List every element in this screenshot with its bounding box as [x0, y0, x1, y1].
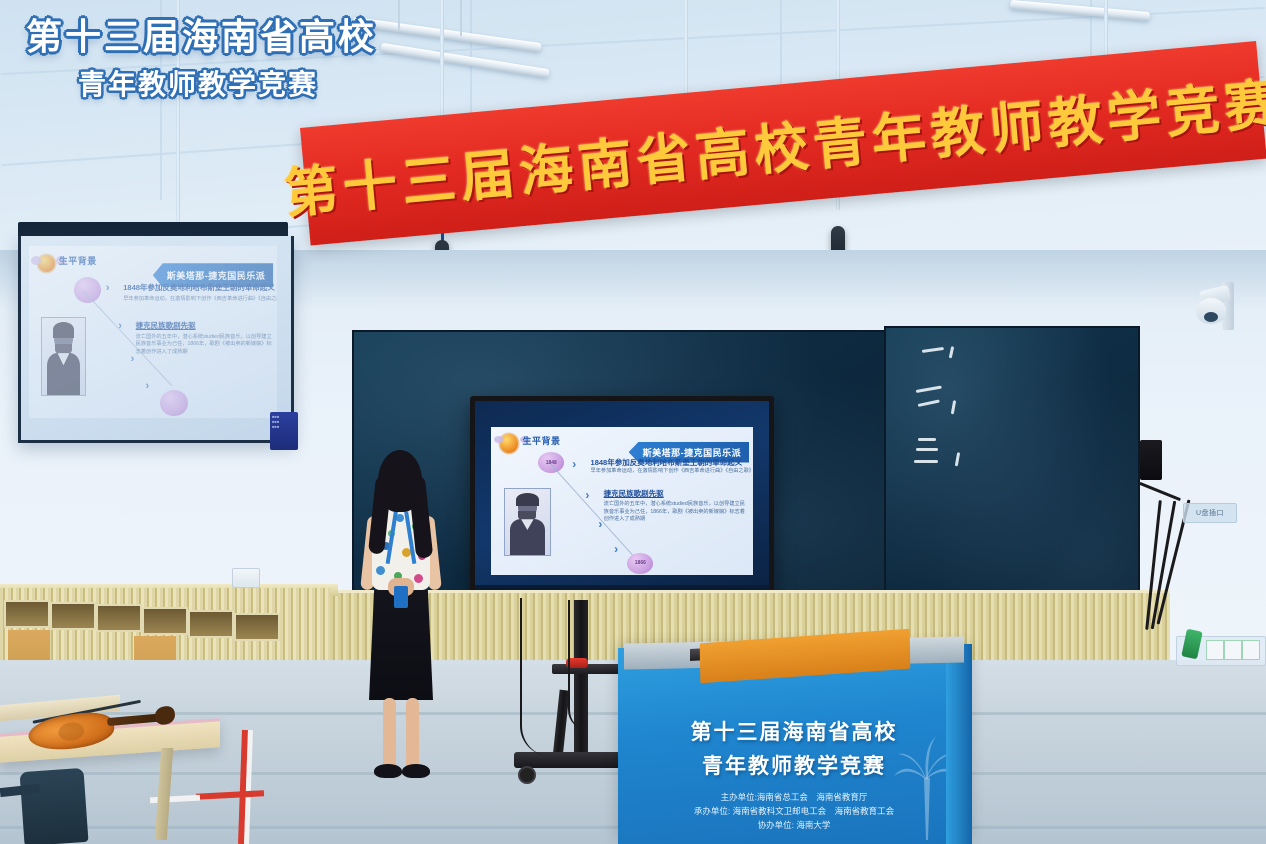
bullet-heading: 捷克民族歌剧先驱	[136, 320, 196, 331]
organizer-line-coorganizer: 协办单位: 海南大学	[618, 818, 970, 832]
chevron-icon: ›	[585, 488, 589, 502]
podium-title: 第十三届海南省高校 青年教师教学竞赛	[618, 716, 970, 780]
chalk-mark-three	[914, 460, 938, 463]
chair	[19, 768, 88, 844]
bullet-heading: 1848年参加反奥地利哈布斯堡王朝的革命起义	[591, 457, 743, 468]
bullet-heading: 捷克民族歌剧先驱	[604, 488, 664, 499]
podium-title-line2: 青年教师教学竞赛	[618, 750, 970, 780]
display-side-module	[1140, 440, 1162, 480]
chevron-icon: ›	[131, 353, 135, 365]
cubby-compartment	[4, 600, 50, 628]
cubby-compartment	[96, 604, 142, 632]
cart-caster	[518, 766, 536, 784]
display-screen: 生平背景 斯美塔那-捷克国民乐派 1848 1866 › › › ›	[475, 401, 769, 607]
chalk-box[interactable]	[1206, 640, 1224, 660]
chalk-mark-three	[918, 438, 936, 441]
power-cable	[520, 598, 552, 756]
classroom-photo: 第十三届海南省高校青年教师教学竞赛 生平背景 斯美塔那-捷克国民乐派 › › ›…	[0, 0, 1266, 844]
wall-outlet[interactable]	[232, 568, 260, 588]
presenter-badge	[394, 586, 408, 608]
timeline-node	[160, 390, 187, 416]
presenter	[352, 450, 448, 800]
bullet-subtext: 流亡国外的五年中，潜心系统studied民族音乐，以创导建立民族音乐事业为己任，…	[136, 334, 275, 357]
bullet-heading: 1848年参加反奥地利哈布斯堡王朝的革命起义	[123, 282, 275, 293]
slide-title-text: 斯美塔那-捷克国民乐派	[167, 269, 266, 282]
timeline-node-1848: 1848	[538, 452, 564, 473]
organizer-line-host: 主办单位:海南省总工会 海南省教育厅	[618, 790, 970, 804]
podium-title-line1: 第十三届海南省高校	[618, 716, 970, 746]
chevron-icon: ›	[572, 457, 576, 471]
chalk-box[interactable]	[1242, 640, 1260, 660]
chalk-mark-three	[916, 448, 938, 451]
chevron-icon: ›	[146, 380, 150, 392]
overlay-line2: 青年教师教学竞赛	[78, 63, 377, 103]
wall-control-plate[interactable]: ■■■■■■■■■	[270, 412, 298, 450]
displayed-slide: 生平背景 斯美塔那-捷克国民乐派 1848 1866 › › › ›	[491, 427, 753, 575]
chevron-icon: ›	[118, 320, 122, 332]
usb-port-label: U盘插口	[1183, 503, 1237, 523]
bullet-subtext: 早年参加革命运动，在激情影响下创作《西吉革命进行曲》《自由之歌》	[591, 468, 753, 476]
camera-lens-icon	[1204, 312, 1218, 322]
timeline-node-label: 1866	[635, 560, 646, 566]
bullet-subtext: 早年参加革命运动，在激情影响下创作《西吉革命进行曲》《自由之歌》	[123, 296, 277, 304]
projected-slide: 生平背景 斯美塔那-捷克国民乐派 › › › › 1848年参加反奥地利哈布斯堡…	[29, 246, 277, 418]
cubby-compartment	[50, 602, 96, 630]
composer-portrait	[41, 317, 85, 396]
presenter-shoe	[402, 764, 430, 778]
light-drop-rod	[398, 0, 400, 30]
security-camera	[1194, 282, 1234, 332]
video-cable	[568, 600, 588, 730]
projection-screen: 生平背景 斯美塔那-捷克国民乐派 › › › › 1848年参加反奥地利哈布斯堡…	[18, 236, 294, 443]
timeline-node	[74, 277, 101, 303]
interactive-display[interactable]: 生平背景 斯美塔那-捷克国民乐派 1848 1866 › › › ›	[470, 396, 774, 612]
chevron-icon: ›	[614, 542, 618, 556]
composer-portrait	[504, 488, 551, 557]
bullet-subtext: 流亡国外的五年中，潜心系统studied民族音乐，以创导建立民族音乐事业为己任，…	[604, 501, 748, 524]
timeline-node-1866: 1866	[627, 553, 653, 574]
cubby-compartment	[234, 613, 280, 641]
title-overlay: 第十三届海南省高校 青年教师教学竞赛	[26, 16, 377, 103]
slide-section-label: 生平背景	[59, 254, 97, 267]
cubby-compartment	[142, 607, 188, 635]
organizer-line-organizer: 承办单位: 海南省教科文卫邮电工会 海南省教育工会	[618, 804, 970, 818]
chalk-box[interactable]	[1224, 640, 1242, 660]
presenter-shoe	[374, 764, 402, 778]
chevron-icon: ›	[106, 282, 110, 294]
podium-organizers: 主办单位:海南省总工会 海南省教育厅 承办单位: 海南省教科文卫邮电工会 海南省…	[618, 790, 970, 832]
cubby-compartment	[188, 610, 234, 638]
slide-section-label: 生平背景	[522, 434, 560, 447]
chevron-icon: ›	[598, 517, 602, 531]
light-drop-rod	[460, 0, 462, 36]
overlay-line1: 第十三届海南省高校	[26, 16, 377, 57]
